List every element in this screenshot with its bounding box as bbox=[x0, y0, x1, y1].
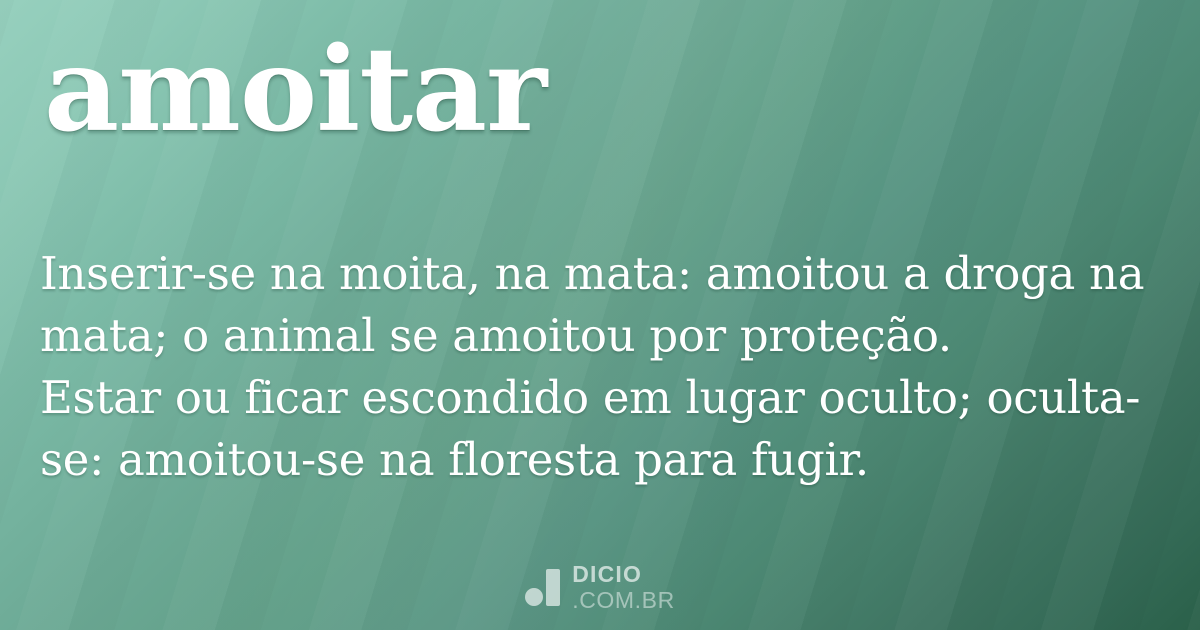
logo-tld: .COM.BR bbox=[572, 589, 675, 612]
definition-line: mata; o animal se amoitou por proteção. bbox=[40, 305, 1170, 367]
logo-wordmark: DICIO .COM.BR bbox=[572, 563, 675, 612]
card-content: amoitar Inserir-se na moita, na mata: am… bbox=[0, 0, 1200, 630]
dictionary-entry-card: amoitar Inserir-se na moita, na mata: am… bbox=[0, 0, 1200, 630]
definition-line: Inserir-se na moita, na mata: amoitou a … bbox=[40, 243, 1170, 305]
page-title: amoitar bbox=[44, 28, 546, 153]
logo-bar-shape bbox=[546, 569, 560, 606]
definition-line: Estar ou ficar escondido em lugar oculto… bbox=[40, 367, 1170, 429]
footer: DICIO .COM.BR bbox=[0, 563, 1200, 612]
definition-list: Inserir-se na moita, na mata: amoitou a … bbox=[40, 243, 1170, 491]
logo-name: DICIO bbox=[572, 563, 675, 586]
dicio-logo-icon bbox=[525, 569, 559, 607]
logo-circle-shape bbox=[525, 588, 543, 606]
dicio-logo: DICIO .COM.BR bbox=[525, 563, 675, 612]
definition-line: se: amoitou-se na floresta para fugir. bbox=[40, 429, 1170, 491]
